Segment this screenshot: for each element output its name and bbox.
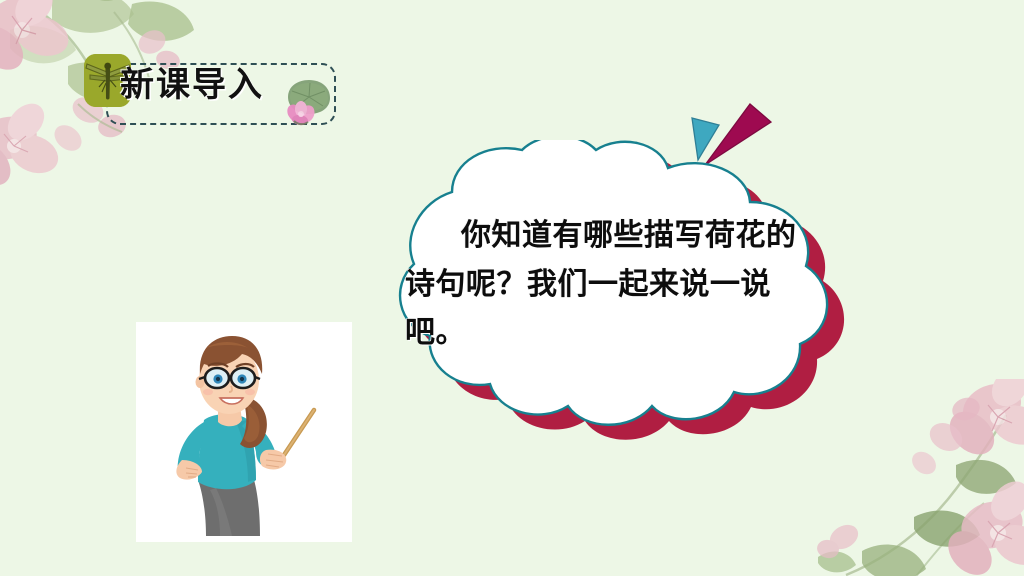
section-title: 新课导入 (120, 68, 264, 102)
teacher-illustration-card (136, 322, 352, 542)
lotus-pad-icon (280, 77, 336, 127)
teacher-illustration (136, 322, 352, 542)
speech-bubble-text: 你知道有哪些描写荷花的诗句呢？我们一起来说一说吧。 (405, 212, 805, 358)
section-title-group: 新课导入 (84, 54, 344, 132)
slide-canvas: 新课导入 (0, 0, 1024, 576)
